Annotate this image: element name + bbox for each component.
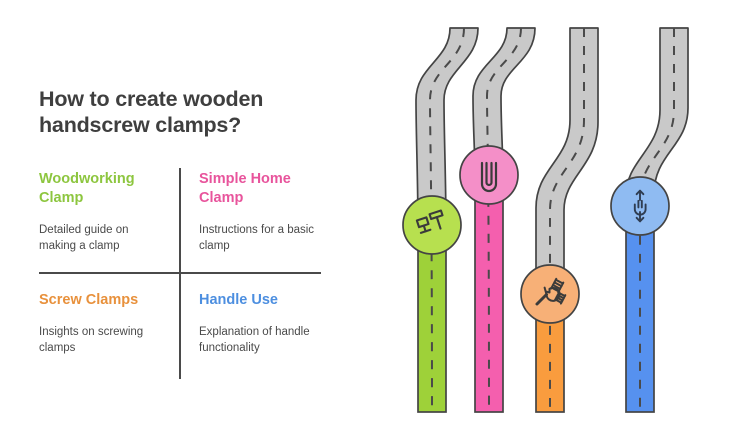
road-handle-use: [611, 28, 688, 412]
topic-title: Screw Clamps: [39, 291, 167, 310]
page-title: How to create wooden handscrew clamps?: [39, 86, 329, 138]
roads-illustration: [372, 0, 752, 443]
topic-cell-handle-use: Handle Use Explanation of handle functio…: [199, 291, 327, 356]
grid-divider-vertical: [179, 168, 181, 379]
road-marker-circle[interactable]: [403, 196, 461, 254]
topic-cell-woodworking-clamp: Woodworking Clamp Detailed guide on maki…: [39, 170, 167, 254]
road-marker-circle[interactable]: [521, 265, 579, 323]
roads-svg: [372, 0, 752, 443]
road-simple-home-clamp: [460, 28, 535, 412]
topic-cell-simple-home-clamp: Simple Home Clamp Instructions for a bas…: [199, 170, 327, 254]
road-marker-circle[interactable]: [460, 146, 518, 204]
road-woodworking-clamp: [403, 28, 478, 412]
grid-divider-horizontal: [39, 272, 321, 274]
topic-description: Insights on screwing clamps: [39, 324, 167, 356]
road-gray-segment: [536, 28, 598, 296]
topic-title: Woodworking Clamp: [39, 170, 167, 208]
topic-title: Handle Use: [199, 291, 327, 310]
left-text-panel: How to create wooden handscrew clamps? W…: [0, 0, 380, 443]
topic-description: Instructions for a basic clamp: [199, 222, 327, 254]
topic-title: Simple Home Clamp: [199, 170, 327, 208]
road-screw-clamps: [521, 28, 598, 412]
topic-description: Detailed guide on making a clamp: [39, 222, 167, 254]
topic-cell-screw-clamps: Screw Clamps Insights on screwing clamps: [39, 291, 167, 356]
road-marker-circle[interactable]: [611, 177, 669, 235]
topic-description: Explanation of handle functionality: [199, 324, 327, 356]
